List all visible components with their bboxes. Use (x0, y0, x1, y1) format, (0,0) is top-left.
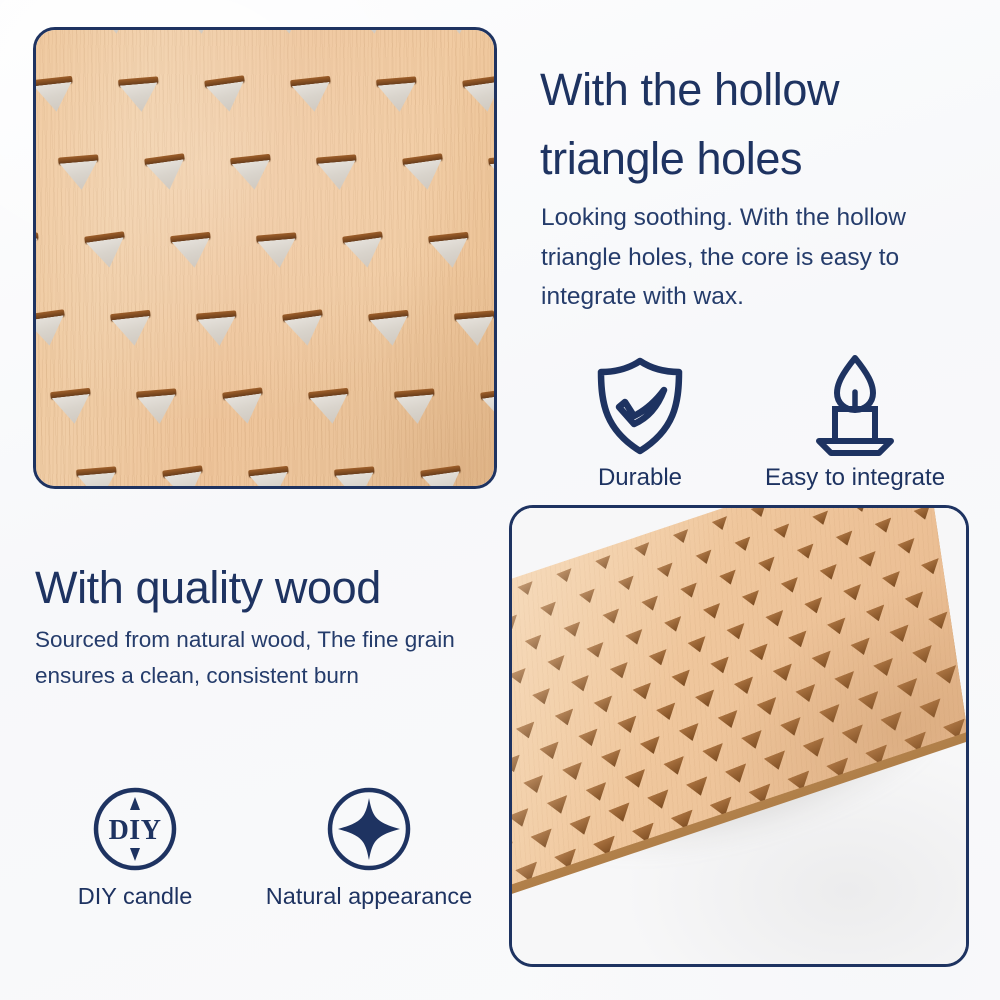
triangle-hole (516, 721, 537, 742)
triangle-hole (420, 465, 464, 489)
studio-backdrop (512, 508, 966, 964)
diy-circle-icon: DIY (92, 785, 178, 873)
triangle-hole (608, 802, 633, 826)
triangle-hole (454, 310, 497, 347)
triangle-hole (578, 728, 600, 750)
triangle-hole (687, 636, 708, 656)
feature-diy-candle-label: DIY candle (78, 883, 193, 910)
triangle-hole (436, 27, 479, 36)
triangle-hole (563, 621, 582, 640)
description-hollow-triangle-holes: Looking soothing. With the hollow triang… (541, 198, 961, 317)
triangle-hole (647, 789, 672, 813)
triangle-hole (882, 571, 903, 591)
triangle-hole (858, 551, 878, 571)
triangle-hole (656, 702, 678, 724)
triangle-hole (547, 655, 567, 675)
perforated-wood-sheet-angled-image (509, 505, 969, 967)
triangle-hole (512, 614, 519, 632)
triangle-hole (851, 508, 869, 515)
triangle-hole (512, 841, 516, 865)
triangle-hole (811, 650, 833, 672)
triangle-hole (850, 637, 872, 659)
triangle-hole (905, 591, 926, 612)
triangle-hole (788, 630, 809, 651)
triangle-hole (664, 616, 684, 636)
triangle-hole (33, 232, 41, 269)
triangle-hole (579, 588, 597, 606)
triangle-hole (673, 529, 691, 546)
triangle-hole (751, 508, 769, 520)
sheet-triangle-hole-pattern (512, 508, 966, 897)
page-title-hollow-triangle-holes: With the hollow triangle holes (540, 56, 970, 194)
feature-list-bottom: DIY DIY candle Natural appearance (35, 785, 505, 910)
triangle-hole (773, 523, 791, 541)
triangle-hole (428, 232, 472, 270)
feature-diy-candle: DIY DIY candle (35, 785, 235, 910)
triangle-hole (136, 388, 179, 425)
description-quality-wood: Sourced from natural wood, The fine grai… (35, 622, 465, 695)
triangle-hole (880, 711, 905, 735)
triangle-hole (819, 704, 843, 727)
triangle-hole (532, 688, 553, 708)
triangle-hole (764, 750, 789, 774)
triangle-hole (827, 617, 848, 638)
triangle-hole (897, 678, 921, 701)
feature-durable-label: Durable (598, 464, 682, 492)
triangle-hole (539, 741, 561, 763)
triangle-hole (144, 153, 188, 192)
triangle-hole (308, 388, 352, 426)
triangle-hole (556, 568, 574, 585)
triangle-hole (376, 76, 419, 113)
triangle-hole (679, 723, 702, 745)
triangle-hole (686, 776, 711, 800)
triangle-hole (595, 555, 613, 572)
triangle-hole (256, 232, 299, 269)
triangle-hole (525, 634, 544, 653)
triangle-hole (734, 676, 756, 698)
feature-natural-appearance-label: Natural appearance (266, 883, 472, 910)
triangle-hole (812, 510, 830, 528)
triangle-hole (695, 549, 713, 567)
triangle-hole (843, 584, 864, 604)
triangle-hole (92, 27, 136, 36)
triangle-hole (562, 762, 585, 784)
triangle-hole (781, 577, 801, 597)
triangle-hole (530, 828, 555, 852)
triangle-hole (602, 608, 621, 627)
triangle-hole (586, 642, 606, 662)
triangle-hole (586, 782, 610, 805)
triangle-hole (734, 536, 752, 554)
triangle-hole (756, 697, 779, 719)
triangle-hole (512, 754, 523, 776)
triangle-hole (780, 717, 804, 740)
feature-natural-appearance: Natural appearance (235, 785, 503, 910)
triangle-hole (282, 309, 326, 348)
triangle-hole (921, 558, 942, 578)
triangle-hole (773, 663, 795, 685)
triangle-hole (680, 582, 699, 601)
triangle-hole (889, 624, 911, 646)
triangle-hole (342, 231, 386, 270)
triangle-hole (758, 556, 777, 575)
triangle-hole (170, 232, 214, 270)
feature-durable: Durable (540, 352, 740, 492)
triangle-hole (803, 737, 828, 761)
triangle-hole (913, 508, 932, 523)
triangle-hole (58, 154, 101, 191)
triangle-hole (512, 808, 532, 831)
triangle-hole (368, 310, 412, 348)
triangle-hole (569, 815, 594, 839)
triangle-hole (33, 309, 69, 348)
triangle-hole (712, 516, 730, 533)
triangle-hole (726, 623, 747, 643)
triangle-hole (858, 691, 882, 714)
triangle-hole (703, 603, 723, 623)
triangle-hole-pattern (36, 30, 494, 486)
sparkle-circle-icon (326, 785, 412, 873)
feature-list-top: Durable Easy to integrate (540, 352, 970, 492)
diy-icon-text: DIY (109, 815, 162, 846)
triangle-hole (512, 701, 514, 721)
triangle-hole (657, 562, 675, 580)
triangle-hole (919, 698, 944, 722)
triangle-hole (402, 153, 446, 192)
triangle-hole (204, 75, 248, 114)
triangle-hole (624, 769, 648, 792)
triangle-hole (841, 724, 866, 748)
triangle-hole (671, 669, 692, 690)
triangle-hole (873, 658, 896, 680)
triangle-hole (710, 656, 731, 677)
triangle-hole (462, 75, 497, 114)
triangle-hole (702, 743, 726, 766)
triangle-hole (928, 611, 950, 633)
feature-easy-to-integrate: Easy to integrate (740, 352, 970, 492)
triangle-hole (523, 775, 546, 797)
triangle-hole (594, 695, 615, 716)
triangle-hole (649, 649, 670, 669)
triangle-hole (836, 530, 855, 549)
triangle-hole (866, 604, 887, 625)
triangle-hole (719, 569, 738, 588)
triangle-hole (350, 27, 394, 36)
triangle-hole (742, 590, 762, 610)
triangle-hole (632, 682, 653, 703)
triangle-hole (749, 643, 770, 664)
triangle-hole (264, 27, 308, 36)
triangle-hole (480, 387, 497, 426)
shield-check-icon (592, 352, 688, 456)
triangle-hole (804, 597, 825, 617)
triangle-hole (935, 665, 959, 688)
triangle-hole (897, 538, 917, 558)
triangle-hole (912, 645, 935, 667)
triangle-hole (725, 763, 750, 787)
triangle-hole (571, 675, 592, 695)
triangle-hole (875, 517, 894, 536)
triangle-hole (765, 610, 786, 630)
triangle-hole (555, 708, 576, 729)
triangle-hole (162, 465, 206, 489)
sheet-top-face (512, 508, 966, 897)
page-title-quality-wood: With quality wood (35, 556, 505, 619)
triangle-hole (33, 27, 51, 36)
triangle-hole (795, 684, 818, 706)
triangle-hole (76, 466, 119, 489)
triangle-hole (634, 542, 652, 559)
triangle-hole (617, 715, 639, 737)
triangle-hole (695, 689, 717, 711)
triangle-hole (741, 730, 765, 753)
triangle-hole (625, 629, 645, 649)
triangle-hole (334, 466, 377, 489)
triangle-hole (316, 154, 359, 191)
triangle-hole (718, 710, 741, 732)
triangle-hole (50, 388, 94, 426)
triangle-hole (248, 466, 292, 489)
triangle-hole (84, 231, 128, 270)
triangle-hole (547, 795, 571, 818)
wood-sheet (512, 508, 966, 964)
infographic-page: With the hollow triangle holes Looking s… (0, 0, 1000, 1000)
triangle-hole (196, 310, 239, 347)
triangle-hole (488, 154, 497, 192)
triangle-hole (540, 601, 558, 619)
triangle-hole (641, 595, 660, 614)
triangle-hole (601, 749, 624, 771)
triangle-hole (517, 581, 535, 598)
candle-icon (809, 352, 901, 456)
triangle-hole (178, 27, 221, 36)
triangle-hole (610, 662, 631, 682)
triangle-hole (230, 154, 274, 192)
triangle-hole (110, 310, 154, 348)
triangle-hole (618, 575, 636, 593)
triangle-hole (797, 543, 816, 562)
triangle-hole (394, 388, 437, 425)
triangle-hole (118, 76, 161, 113)
triangle-hole (222, 387, 266, 426)
perforated-wood-macro-image (33, 27, 497, 489)
triangle-hole (819, 564, 839, 584)
triangle-hole (663, 756, 687, 779)
triangle-hole (640, 736, 663, 758)
feature-easy-to-integrate-label: Easy to integrate (765, 464, 945, 492)
triangle-hole (290, 76, 334, 114)
triangle-hole (33, 76, 76, 114)
triangle-hole (834, 671, 857, 693)
triangle-hole (512, 668, 528, 688)
